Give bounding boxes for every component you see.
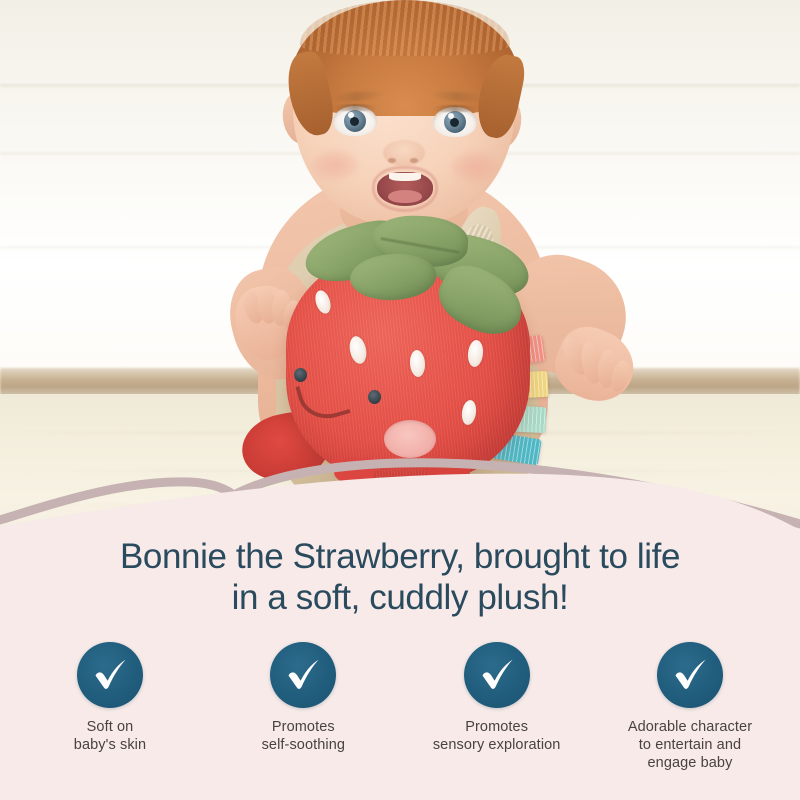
baby-pupil	[350, 117, 359, 126]
baby-eye-glint	[348, 112, 354, 118]
feature-label: Adorable character to entertain and enga…	[628, 718, 752, 772]
feature-label-line-1: Soft on	[87, 719, 134, 735]
feature-label: Promotes sensory exploration	[433, 718, 561, 754]
plush-eye	[294, 368, 307, 382]
baby-eyelash	[333, 104, 377, 111]
feature-label: Soft on baby's skin	[74, 718, 146, 754]
headline-line-2: in a soft, cuddly plush!	[0, 577, 800, 618]
feature-item-promotes-sensory-exploration: Promotes sensory exploration	[403, 642, 591, 772]
plush-eye	[368, 390, 381, 404]
feature-label-line-1: Adorable character	[628, 719, 752, 735]
feature-list: Soft on baby's skin Promotes self-soothi…	[0, 642, 800, 772]
baby-eye-glint	[448, 113, 454, 119]
baby-nostril	[410, 158, 418, 163]
baby-hair-texture	[300, 0, 510, 56]
feature-label-line-2: to entertain and	[639, 737, 741, 753]
check-icon	[77, 642, 143, 708]
feature-label-line-2: self-soothing	[262, 737, 346, 753]
check-icon	[270, 642, 336, 708]
feature-label-line-1: Promotes	[465, 719, 528, 735]
baby-eyelash	[433, 105, 477, 112]
feature-item-soft-on-babys-skin: Soft on baby's skin	[16, 642, 204, 772]
baby-pupil	[450, 118, 459, 127]
feature-item-adorable-character: Adorable character to entertain and enga…	[596, 642, 784, 772]
baby-cheek	[452, 152, 498, 182]
product-marketing-image: Bonnie the Strawberry, brought to life i…	[0, 0, 800, 800]
feature-label-line-2: sensory exploration	[433, 737, 561, 753]
baby-lips	[372, 166, 438, 212]
headline-line-1: Bonnie the Strawberry, brought to life	[0, 536, 800, 577]
baby-nostril	[388, 158, 396, 163]
check-icon	[464, 642, 530, 708]
feature-label-line-1: Promotes	[272, 719, 335, 735]
check-icon	[657, 642, 723, 708]
page-title: Bonnie the Strawberry, brought to life i…	[0, 536, 800, 618]
panel-content: Bonnie the Strawberry, brought to life i…	[0, 536, 800, 800]
feature-label-line-3: engage baby	[647, 755, 732, 771]
feature-item-promotes-self-soothing: Promotes self-soothing	[209, 642, 397, 772]
feature-label: Promotes self-soothing	[262, 718, 346, 754]
feature-label-line-2: baby's skin	[74, 737, 146, 753]
baby-cheek	[312, 150, 358, 180]
